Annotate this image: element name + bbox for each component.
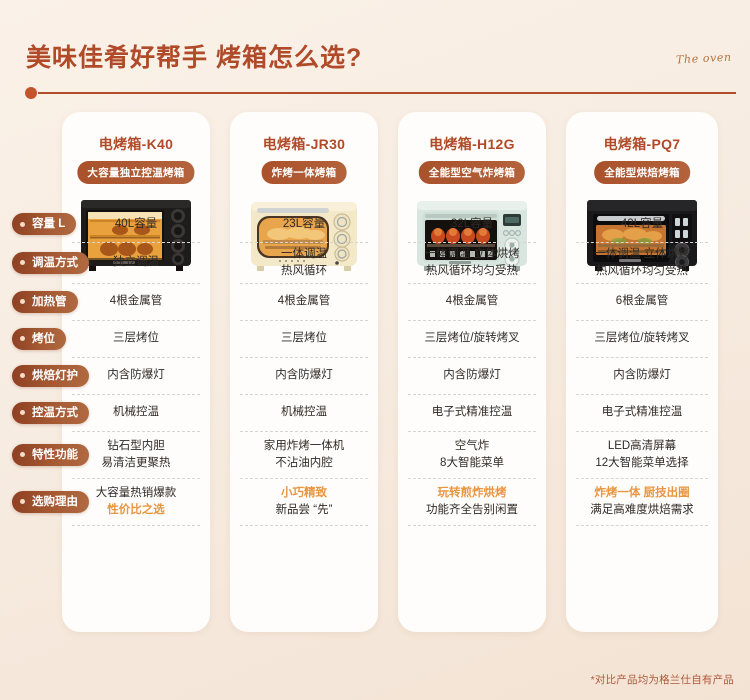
spec-cell: 电子式精准控温 <box>566 394 718 431</box>
spec-cell-line: 满足高难度烘焙需求 <box>590 502 694 519</box>
spec-cell-line: 三层烤位/旋转烤叉 <box>424 330 519 347</box>
header-rule <box>38 92 736 94</box>
spec-cell-line: 内含防爆灯 <box>613 367 671 384</box>
spec-cell-line: 机械控温 <box>113 404 159 421</box>
spec-cell: 三层烤位/旋转烤叉 <box>398 320 546 357</box>
product-name: 电烤箱-H12G <box>398 134 546 154</box>
spec-cell-line: 8大智能菜单 <box>440 455 504 472</box>
the-oven-script-mark: The oven <box>676 51 732 67</box>
spec-cell-line: 热风循环均匀受热 <box>596 263 688 280</box>
spec-cell-line: 小巧精致 <box>281 485 327 502</box>
bullet-dot <box>20 410 25 415</box>
spec-cell: 大容量热销爆款性价比之选 <box>62 478 210 525</box>
spec-cell: 23L容量 <box>230 206 378 242</box>
spec-cell: 一体调温 立体烘烤热风循环均匀受热 <box>398 242 546 283</box>
footnote: *对比产品均为格兰仕自有产品 <box>591 672 734 687</box>
spec-row: 特性功能钻石型内胆易清洁更聚热家用炸烤一体机不沾油内腔空气炸8大智能菜单LED高… <box>0 431 750 478</box>
spec-cell-line: 性价比之选 <box>107 502 165 519</box>
spec-cell-line: 4根金属管 <box>278 293 330 310</box>
spec-cell-line: 大容量热销爆款 <box>96 485 177 502</box>
spec-cell-line: LED高清屏幕 <box>608 438 676 455</box>
product-badge: 全能型烘焙烤箱 <box>594 161 690 184</box>
spec-cell: 一体调温 立体烘烤热风循环均匀受热 <box>566 242 718 283</box>
bullet-dot <box>20 373 25 378</box>
spec-row: 加热管4根金属管4根金属管4根金属管6根金属管 <box>0 283 750 320</box>
spec-cell: 玩转煎炸烘烤功能齐全告别闲置 <box>398 478 546 525</box>
spec-cell: 4根金属管 <box>62 283 210 320</box>
bullet-dot <box>20 260 25 265</box>
spec-cell: 三层烤位 <box>230 320 378 357</box>
spec-cell: LED高清屏幕12大智能菜单选择 <box>566 431 718 478</box>
spec-row-label-text: 烤位 <box>32 333 55 345</box>
spec-row: 烘焙灯护内含防爆灯内含防爆灯内含防爆灯内含防爆灯 <box>0 357 750 394</box>
product-name: 电烤箱-K40 <box>62 134 210 154</box>
spec-cell-line: 家用炸烤一体机 <box>264 438 345 455</box>
spec-cell: 炸烤一体 厨技出圈满足高难度烘焙需求 <box>566 478 718 525</box>
header-rule-dot <box>25 87 37 99</box>
product-badge: 炸烤一体烤箱 <box>262 161 347 184</box>
spec-cell-line: 42L容量 <box>621 216 663 233</box>
page-title: 美味佳肴好帮手 烤箱怎么选? <box>26 38 362 74</box>
spec-cell: 4根金属管 <box>398 283 546 320</box>
spec-cell-line: 炸烤一体 厨技出圈 <box>594 485 689 502</box>
spec-cell-line: 6根金属管 <box>616 293 668 310</box>
spec-cell-line: 热风循环 <box>281 263 327 280</box>
product-name: 电烤箱-PQ7 <box>566 134 718 154</box>
bullet-dot <box>20 336 25 341</box>
page-header: 美味佳肴好帮手 烤箱怎么选? The oven <box>0 0 750 110</box>
spec-cell: 机械控温 <box>62 394 210 431</box>
spec-cell-line: 40L容量 <box>115 216 157 233</box>
spec-cell-line: 一体调温 <box>281 246 327 263</box>
spec-cell-line: 4根金属管 <box>446 293 498 310</box>
spec-cell-line: 三层烤位/旋转烤叉 <box>594 330 689 347</box>
bullet-dot <box>20 499 25 504</box>
spec-cell: 钻石型内胆易清洁更聚热 <box>62 431 210 478</box>
spec-row: 烤位三层烤位三层烤位三层烤位/旋转烤叉三层烤位/旋转烤叉 <box>0 320 750 357</box>
product-name: 电烤箱-JR30 <box>230 134 378 154</box>
spec-cell-line: 热风循环均匀受热 <box>426 263 518 280</box>
spec-cell-line: 内含防爆灯 <box>107 367 165 384</box>
spec-cell: 家用炸烤一体机不沾油内腔 <box>230 431 378 478</box>
product-badge: 全能型空气炸烤箱 <box>419 161 525 184</box>
bullet-dot <box>20 299 25 304</box>
spec-cell: 6根金属管 <box>566 283 718 320</box>
spec-cell-line: 易清洁更聚热 <box>102 455 171 472</box>
spec-row: 调温方式独立调温一体调温热风循环一体调温 立体烘烤热风循环均匀受热一体调温 立体… <box>0 242 750 283</box>
spec-cell: 三层烤位 <box>62 320 210 357</box>
spec-cell: 内含防爆灯 <box>230 357 378 394</box>
spec-cell-line: 三层烤位 <box>281 330 327 347</box>
spec-cell-line: 一体调温 立体烘烤 <box>594 246 689 263</box>
spec-cell-line: 12大智能菜单选择 <box>595 455 688 472</box>
spec-cell: 三层烤位/旋转烤叉 <box>566 320 718 357</box>
spec-cell-line: 机械控温 <box>281 404 327 421</box>
product-badge: 大容量独立控温烤箱 <box>77 161 194 184</box>
spec-cell: 电子式精准控温 <box>398 394 546 431</box>
spec-cell-line: 独立调温 <box>113 254 159 271</box>
spec-cell-line: 23L容量 <box>283 216 325 233</box>
comparison-page: 美味佳肴好帮手 烤箱怎么选? The oven 电烤箱-K40 大容量独立控温烤… <box>0 0 750 700</box>
spec-cell-line: 内含防爆灯 <box>275 367 333 384</box>
spec-cell: 机械控温 <box>230 394 378 431</box>
spec-cell: 内含防爆灯 <box>398 357 546 394</box>
spec-cell-line: 不沾油内腔 <box>275 455 333 472</box>
spec-row: 控温方式机械控温机械控温电子式精准控温电子式精准控温 <box>0 394 750 431</box>
spec-row: 选购理由大容量热销爆款性价比之选小巧精致新品尝 “先”玩转煎炸烘烤功能齐全告别闲… <box>0 478 750 525</box>
spec-row-label-text: 容量 L <box>32 218 65 230</box>
spec-cell-line: 一体调温 立体烘烤 <box>424 246 519 263</box>
spec-cell: 42L容量 <box>566 206 718 242</box>
spec-cell: 4根金属管 <box>230 283 378 320</box>
spec-cell-line: 功能齐全告别闲置 <box>426 502 518 519</box>
spec-cell: 内含防爆灯 <box>62 357 210 394</box>
spec-cell-line: 钻石型内胆 <box>107 438 165 455</box>
spec-cell-line: 4根金属管 <box>110 293 162 310</box>
spec-cell: 一体调温热风循环 <box>230 242 378 283</box>
spec-cell-line: 电子式精准控温 <box>602 404 683 421</box>
spec-cell-line: 内含防爆灯 <box>443 367 501 384</box>
spec-cell-line: 空气炸 <box>455 438 490 455</box>
spec-cell: 独立调温 <box>62 242 210 283</box>
spec-cell: 32L容量 <box>398 206 546 242</box>
spec-cell: 小巧精致新品尝 “先” <box>230 478 378 525</box>
spec-row-label[interactable]: 烤位 <box>12 328 66 350</box>
spec-cell-line: 32L容量 <box>451 216 493 233</box>
spec-cell: 内含防爆灯 <box>566 357 718 394</box>
spec-row: 容量 L40L容量23L容量32L容量42L容量 <box>0 206 750 242</box>
bullet-dot <box>20 222 25 227</box>
bullet-dot <box>20 452 25 457</box>
spec-cell-line: 新品尝 “先” <box>276 502 333 519</box>
spec-cell-line: 三层烤位 <box>113 330 159 347</box>
spec-cell-line: 玩转煎炸烘烤 <box>438 485 507 502</box>
spec-cell: 40L容量 <box>62 206 210 242</box>
spec-cell: 空气炸8大智能菜单 <box>398 431 546 478</box>
spec-cell-line: 电子式精准控温 <box>432 404 513 421</box>
